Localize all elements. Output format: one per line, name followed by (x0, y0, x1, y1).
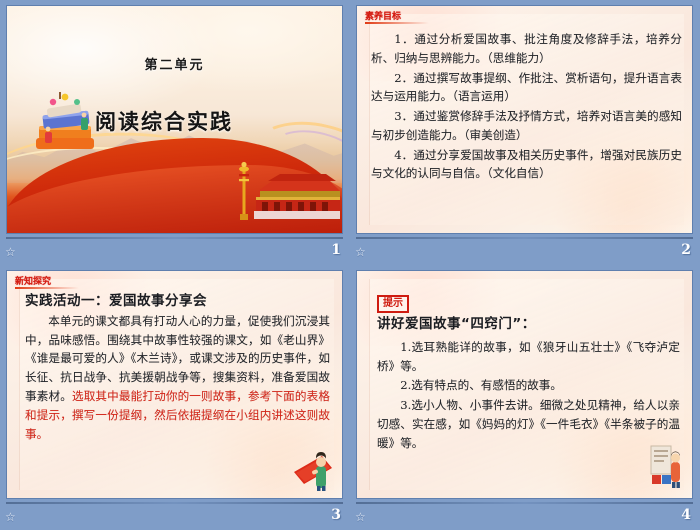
slide-statusbar-1: ☆ 1 (0, 240, 350, 265)
slide-number: 2 (681, 242, 691, 258)
section-header-label: 素养目标 (365, 9, 401, 22)
slide-thumbnail-grid: 第二单元 阅读综合实践 ☆ 1 素养目标 1．通过分析爱国故事、批注角度及修辞手… (0, 0, 700, 530)
slide-number: 4 (681, 507, 691, 523)
slide-canvas-1[interactable]: 第二单元 阅读综合实践 (6, 5, 343, 234)
slide-thumbnail-3[interactable]: 新知探究 实践活动一：爱国故事分享会 本单元的课文都具有打动人心的力量，促使我们… (0, 265, 350, 530)
tip-badge: 提示 (377, 295, 409, 313)
slide-title: 阅读综合实践 (95, 106, 233, 136)
huabiao-column-illustration (238, 160, 250, 222)
activity-title: 实践活动一：爱国故事分享会 (25, 293, 330, 310)
star-icon[interactable]: ☆ (355, 509, 377, 525)
storyteller-illustration (650, 444, 684, 490)
section-header-underline (15, 287, 79, 289)
slide-divider-rule (356, 237, 693, 239)
slide-1-background: 第二单元 阅读综合实践 (7, 6, 342, 233)
section-header-underline (365, 22, 429, 24)
slide-statusbar-2: ☆ 2 (350, 240, 700, 265)
slide-thumbnail-4[interactable]: 提示 讲好爱国故事“四窍门”： 1.选耳熟能详的故事，如《狼牙山五壮士》《飞夺泸… (350, 265, 700, 530)
book-stack-illustration (33, 86, 99, 152)
objective-item: 4．通过分享爱国故事及相关历史事件，增强对民族历史与文化的认同与自信。（文化自信… (371, 146, 682, 184)
slide-thumbnail-1[interactable]: 第二单元 阅读综合实践 ☆ 1 (0, 0, 350, 265)
slide-divider-rule (6, 502, 343, 504)
activity-body: 本单元的课文都具有打动人心的力量，促使我们沉浸其中，品味感悟。围绕其中故事性较强… (25, 312, 330, 443)
tip-item: 2.选有特点的、有感悟的故事。 (377, 376, 680, 395)
flag-bearer-illustration (292, 450, 336, 492)
slide-number: 1 (331, 242, 341, 258)
slide-statusbar-3: ☆ 3 (0, 505, 350, 530)
star-icon[interactable]: ☆ (355, 244, 377, 260)
star-icon[interactable]: ☆ (5, 509, 27, 525)
slide-canvas-4[interactable]: 提示 讲好爱国故事“四窍门”： 1.选耳熟能详的故事，如《狼牙山五壮士》《飞夺泸… (356, 270, 693, 499)
objective-item: 1．通过分析爱国故事、批注角度及修辞手法，培养分析、归纳与思辨能力。（思维能力） (371, 30, 682, 68)
tips-list: 1.选耳熟能详的故事，如《狼牙山五壮士》《飞夺泸定桥》等。 2.选有特点的、有感… (377, 338, 680, 453)
unit-label: 第二单元 (7, 54, 342, 73)
slide-divider-rule (356, 502, 693, 504)
slide-number: 3 (331, 507, 341, 523)
objective-item: 2．通过撰写故事提纲、作批注、赏析语句，提升语言表达与运用能力。（语言运用） (371, 69, 682, 107)
slide-thumbnail-2[interactable]: 素养目标 1．通过分析爱国故事、批注角度及修辞手法，培养分析、归纳与思辨能力。（… (350, 0, 700, 265)
objective-item: 3．通过鉴赏修辞手法及抒情方式，培养对语言美的感知与初步创造能力。（审美创造） (371, 107, 682, 145)
star-icon[interactable]: ☆ (5, 244, 27, 260)
objectives-list: 1．通过分析爱国故事、批注角度及修辞手法，培养分析、归纳与思辨能力。（思维能力）… (371, 30, 682, 183)
tip-item: 1.选耳熟能详的故事，如《狼牙山五壮士》《飞夺泸定桥》等。 (377, 338, 680, 376)
tiananmen-illustration (254, 171, 340, 219)
slide-divider-rule (6, 237, 343, 239)
tip-item: 3.选小人物、小事件去讲。细微之处见精神，给人以亲切感、实在感，如《妈妈的灯》《… (377, 396, 680, 452)
section-header-label: 新知探究 (15, 274, 51, 287)
slide-statusbar-4: ☆ 4 (350, 505, 700, 530)
slide-canvas-2[interactable]: 素养目标 1．通过分析爱国故事、批注角度及修辞手法，培养分析、归纳与思辨能力。（… (356, 5, 693, 234)
tips-title: 讲好爱国故事“四窍门”： (377, 316, 680, 333)
slide-canvas-3[interactable]: 新知探究 实践活动一：爱国故事分享会 本单元的课文都具有打动人心的力量，促使我们… (6, 270, 343, 499)
